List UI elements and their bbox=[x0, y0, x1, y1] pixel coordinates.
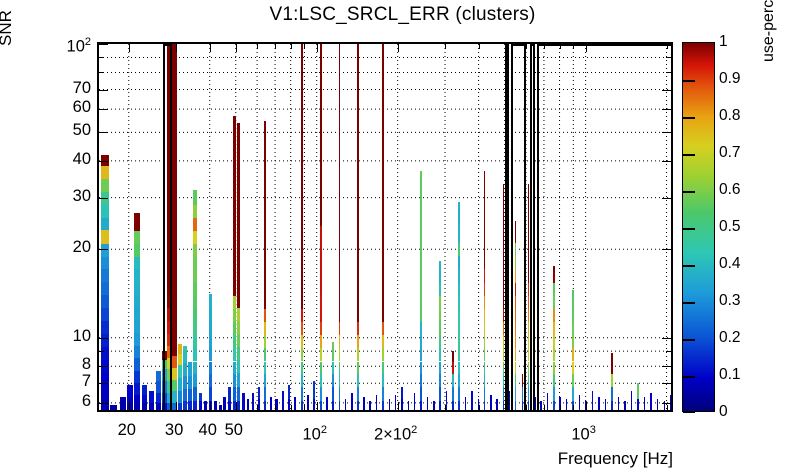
y-tick bbox=[99, 366, 108, 367]
x-tick-label: 2×102 bbox=[356, 422, 436, 443]
highlight-box bbox=[537, 44, 671, 410]
x-minor-tick bbox=[560, 405, 561, 410]
x-minor-tick bbox=[573, 405, 574, 410]
colorbar-tick-label: 0.2 bbox=[719, 330, 741, 346]
colorbar-title: use-percentage bbox=[760, 0, 778, 62]
colorbar-tick-label: 0.3 bbox=[719, 293, 741, 309]
highlight-boxes bbox=[99, 44, 671, 410]
y-minor-tick-right bbox=[666, 351, 671, 352]
x-minor-tick bbox=[291, 405, 292, 410]
colorbar-tick-label: 0.4 bbox=[719, 256, 741, 272]
y-tick bbox=[99, 403, 108, 404]
y-tick-label: 40 bbox=[39, 151, 91, 168]
y-tick-label: 20 bbox=[39, 239, 91, 256]
colorbar-tick bbox=[683, 302, 695, 304]
colorbar-tick bbox=[683, 228, 695, 230]
x-minor-tick bbox=[505, 405, 506, 410]
y-tick-label: 70 bbox=[39, 80, 91, 97]
chart-title: V1:LSC_SRCL_ERR (clusters) bbox=[0, 4, 805, 26]
y-tick-label: 30 bbox=[39, 188, 91, 205]
y-minor-tick bbox=[99, 72, 104, 73]
colorbar bbox=[682, 42, 715, 412]
x-tick-top bbox=[317, 44, 318, 52]
colorbar-tick bbox=[683, 154, 695, 156]
plot-frame bbox=[97, 42, 673, 412]
y-tick bbox=[99, 198, 108, 199]
x-minor-tick-top bbox=[257, 44, 258, 49]
x-tick-label: 50 bbox=[194, 422, 274, 439]
y-axis-title: SNR bbox=[0, 10, 16, 46]
x-tick-top bbox=[129, 44, 130, 52]
x-tick bbox=[210, 402, 211, 410]
y-tick bbox=[99, 109, 108, 110]
y-tick-label: 8 bbox=[39, 356, 91, 373]
y-tick-right bbox=[662, 132, 671, 133]
x-minor-tick-top bbox=[544, 44, 545, 49]
y-tick bbox=[99, 161, 108, 162]
y-minor-tick-right bbox=[666, 72, 671, 73]
y-tick-label: 50 bbox=[39, 122, 91, 139]
y-tick-right bbox=[662, 161, 671, 162]
colorbar-tick bbox=[683, 376, 695, 378]
x-minor-tick-top bbox=[291, 44, 292, 49]
x-tick-top bbox=[398, 44, 399, 52]
y-minor-tick-right bbox=[666, 57, 671, 58]
x-minor-tick bbox=[304, 405, 305, 410]
y-tick bbox=[99, 383, 108, 384]
y-tick-label: 6 bbox=[39, 393, 91, 410]
y-tick-label: 10 bbox=[39, 328, 91, 345]
colorbar-tick-label: 0.7 bbox=[719, 145, 741, 161]
plot-area bbox=[99, 44, 671, 410]
highlight-box bbox=[505, 44, 510, 410]
highlight-box bbox=[163, 44, 172, 410]
x-tick-top bbox=[586, 44, 587, 52]
y-tick-right bbox=[662, 366, 671, 367]
x-minor-tick-top bbox=[304, 44, 305, 49]
colorbar-tick-label: 0.6 bbox=[719, 182, 741, 198]
x-tick-top bbox=[176, 44, 177, 52]
y-tick-label: 102 bbox=[39, 34, 91, 55]
x-tick-label: 102 bbox=[275, 422, 355, 443]
y-tick-right bbox=[662, 198, 671, 199]
x-minor-tick-top bbox=[573, 44, 574, 49]
x-minor-tick bbox=[275, 405, 276, 410]
x-axis-title: Frequency [Hz] bbox=[0, 449, 673, 469]
x-minor-tick-top bbox=[479, 44, 480, 49]
colorbar-tick-label: 1 bbox=[719, 34, 728, 50]
y-tick-right bbox=[662, 338, 671, 339]
y-tick bbox=[99, 44, 108, 45]
colorbar-tick-label: 0 bbox=[719, 404, 728, 420]
highlight-box bbox=[511, 44, 526, 410]
y-tick-right bbox=[662, 249, 671, 250]
y-tick-right bbox=[662, 90, 671, 91]
y-tick bbox=[99, 90, 108, 91]
y-tick-label: 7 bbox=[39, 373, 91, 390]
colorbar-tick-label: 0.9 bbox=[719, 71, 741, 87]
x-minor-tick-top bbox=[445, 44, 446, 49]
x-tick bbox=[176, 402, 177, 410]
x-tick bbox=[129, 402, 130, 410]
colorbar-tick-label: 0.1 bbox=[719, 367, 741, 383]
y-minor-tick bbox=[99, 351, 104, 352]
highlight-box bbox=[530, 44, 535, 410]
y-minor-tick bbox=[99, 57, 104, 58]
x-minor-tick bbox=[257, 405, 258, 410]
y-tick-right bbox=[662, 109, 671, 110]
colorbar-tick-label: 0.5 bbox=[719, 219, 741, 235]
colorbar-tick bbox=[683, 117, 695, 119]
colorbar-gradient bbox=[683, 43, 714, 411]
y-tick-right bbox=[662, 383, 671, 384]
x-minor-tick-top bbox=[560, 44, 561, 49]
colorbar-tick bbox=[683, 411, 695, 413]
x-minor-tick-top bbox=[275, 44, 276, 49]
plot-canvas: V1:LSC_SRCL_ERR (clusters) SNR Frequency… bbox=[0, 0, 805, 472]
colorbar-tick bbox=[683, 265, 695, 267]
y-tick-right bbox=[662, 403, 671, 404]
x-tick bbox=[317, 402, 318, 410]
colorbar-tick bbox=[683, 339, 695, 341]
x-tick-label: 103 bbox=[544, 422, 624, 443]
x-minor-tick bbox=[479, 405, 480, 410]
y-tick-label: 60 bbox=[39, 99, 91, 116]
x-tick-top bbox=[236, 44, 237, 52]
x-minor-tick-top bbox=[667, 44, 668, 49]
x-tick-top bbox=[210, 44, 211, 52]
x-minor-tick bbox=[526, 405, 527, 410]
colorbar-tick bbox=[683, 191, 695, 193]
y-tick bbox=[99, 338, 108, 339]
x-tick bbox=[236, 402, 237, 410]
colorbar-tick bbox=[683, 80, 695, 82]
x-minor-tick bbox=[445, 405, 446, 410]
x-tick bbox=[398, 402, 399, 410]
y-tick bbox=[99, 132, 108, 133]
y-tick bbox=[99, 249, 108, 250]
x-minor-tick-top bbox=[526, 44, 527, 49]
colorbar-tick-label: 0.8 bbox=[719, 108, 741, 124]
x-minor-tick-top bbox=[505, 44, 506, 49]
x-tick bbox=[586, 402, 587, 410]
x-minor-tick bbox=[667, 405, 668, 410]
x-minor-tick bbox=[544, 405, 545, 410]
